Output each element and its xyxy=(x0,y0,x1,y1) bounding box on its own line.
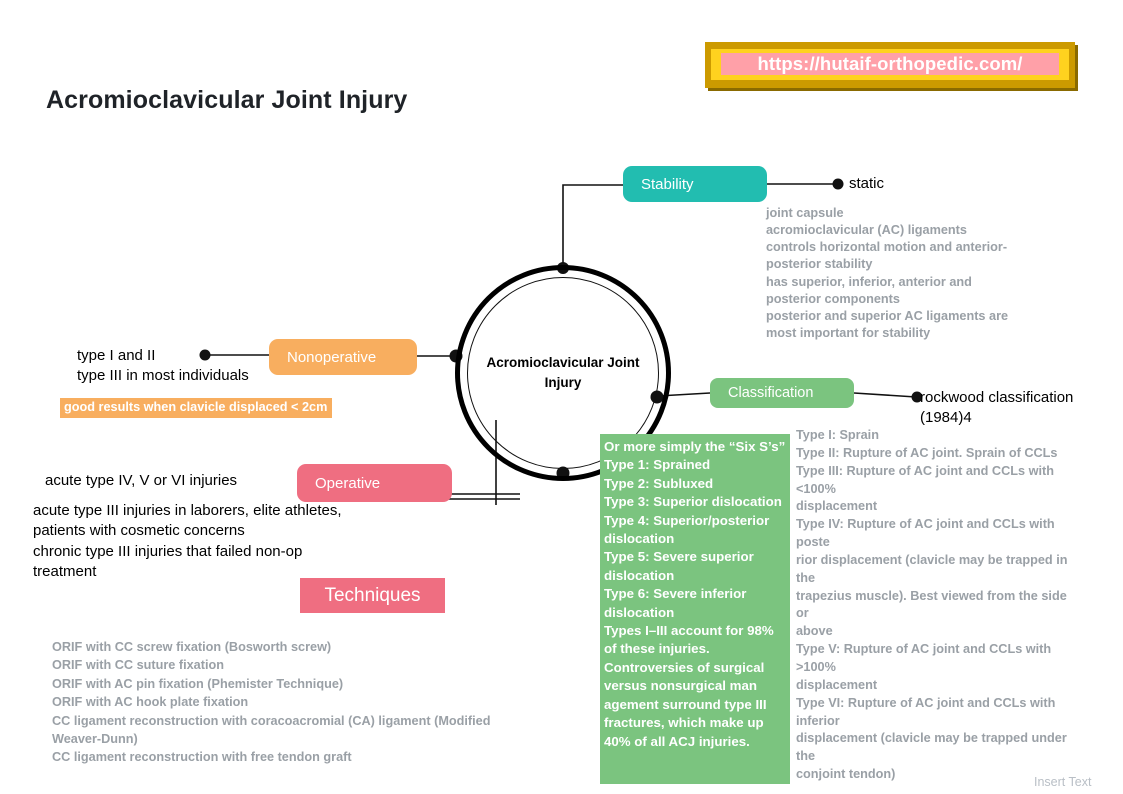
insert-text-placeholder[interactable]: Insert Text xyxy=(1034,775,1091,789)
mindmap-canvas: https://hutaif-orthopedic.com/ Acromiocl… xyxy=(0,0,1123,794)
branch-stability[interactable]: Stability xyxy=(623,166,767,202)
stability-child-static: static xyxy=(849,174,884,194)
operative-indications: acute type III injuries in laborers, eli… xyxy=(33,501,342,583)
nonoperative-child-types: type I and II type III in most individua… xyxy=(77,346,249,387)
branch-classification-label: Classification xyxy=(728,385,813,401)
branch-stability-label: Stability xyxy=(641,176,694,193)
banner-url-text: https://hutaif-orthopedic.com/ xyxy=(757,53,1022,75)
six-s-classification-panel: Or more simply the “Six S’s” Type 1: Spr… xyxy=(600,434,790,784)
branch-classification[interactable]: Classification xyxy=(710,378,854,408)
branch-techniques-label: Techniques xyxy=(324,585,420,607)
branch-techniques[interactable]: Techniques xyxy=(300,578,445,613)
branch-operative[interactable]: Operative xyxy=(297,464,452,502)
nonoperative-highlight-note: good results when clavicle displaced < 2… xyxy=(60,398,332,418)
classification-details: Type I: Sprain Type II: Rupture of AC jo… xyxy=(796,427,1106,784)
page-title: Acromioclavicular Joint Injury xyxy=(46,86,407,115)
branch-nonoperative-label: Nonoperative xyxy=(287,349,376,366)
classification-child-rockwood: rockwood classification (1984)4 xyxy=(920,388,1073,429)
techniques-list: ORIF with CC screw fixation (Bosworth sc… xyxy=(52,638,532,767)
branch-operative-label: Operative xyxy=(315,475,380,492)
branch-nonoperative[interactable]: Nonoperative xyxy=(269,339,417,375)
operative-child-acute-injuries: acute type IV, V or VI injuries xyxy=(45,471,237,491)
website-url-banner[interactable]: https://hutaif-orthopedic.com/ xyxy=(705,42,1075,88)
stability-details: joint capsule acromioclavicular (AC) lig… xyxy=(766,205,1096,342)
banner-url-pill: https://hutaif-orthopedic.com/ xyxy=(721,53,1059,75)
banner-inner-frame: https://hutaif-orthopedic.com/ xyxy=(711,49,1069,80)
